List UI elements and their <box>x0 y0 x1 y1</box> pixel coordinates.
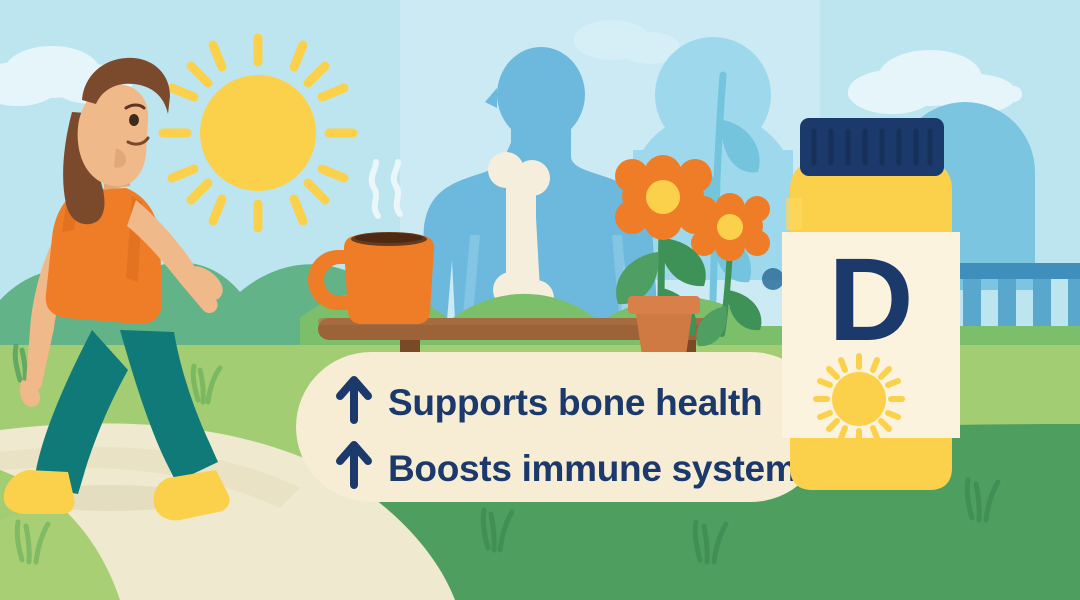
sun-icon <box>163 38 353 228</box>
illustration-canvas: Supports bone health Boosts immune syste… <box>0 0 1080 600</box>
decor-dot <box>762 268 784 290</box>
bottle-cap <box>800 118 944 176</box>
benefit-label-2: Boosts immune system <box>388 448 797 489</box>
sun-icon <box>816 356 902 442</box>
bottle-letter-d: D <box>828 234 913 366</box>
benefit-label-1: Supports bone health <box>388 382 762 423</box>
vitamin-bottle: D <box>782 118 960 490</box>
scene-svg: Supports bone health Boosts immune syste… <box>0 0 1080 600</box>
